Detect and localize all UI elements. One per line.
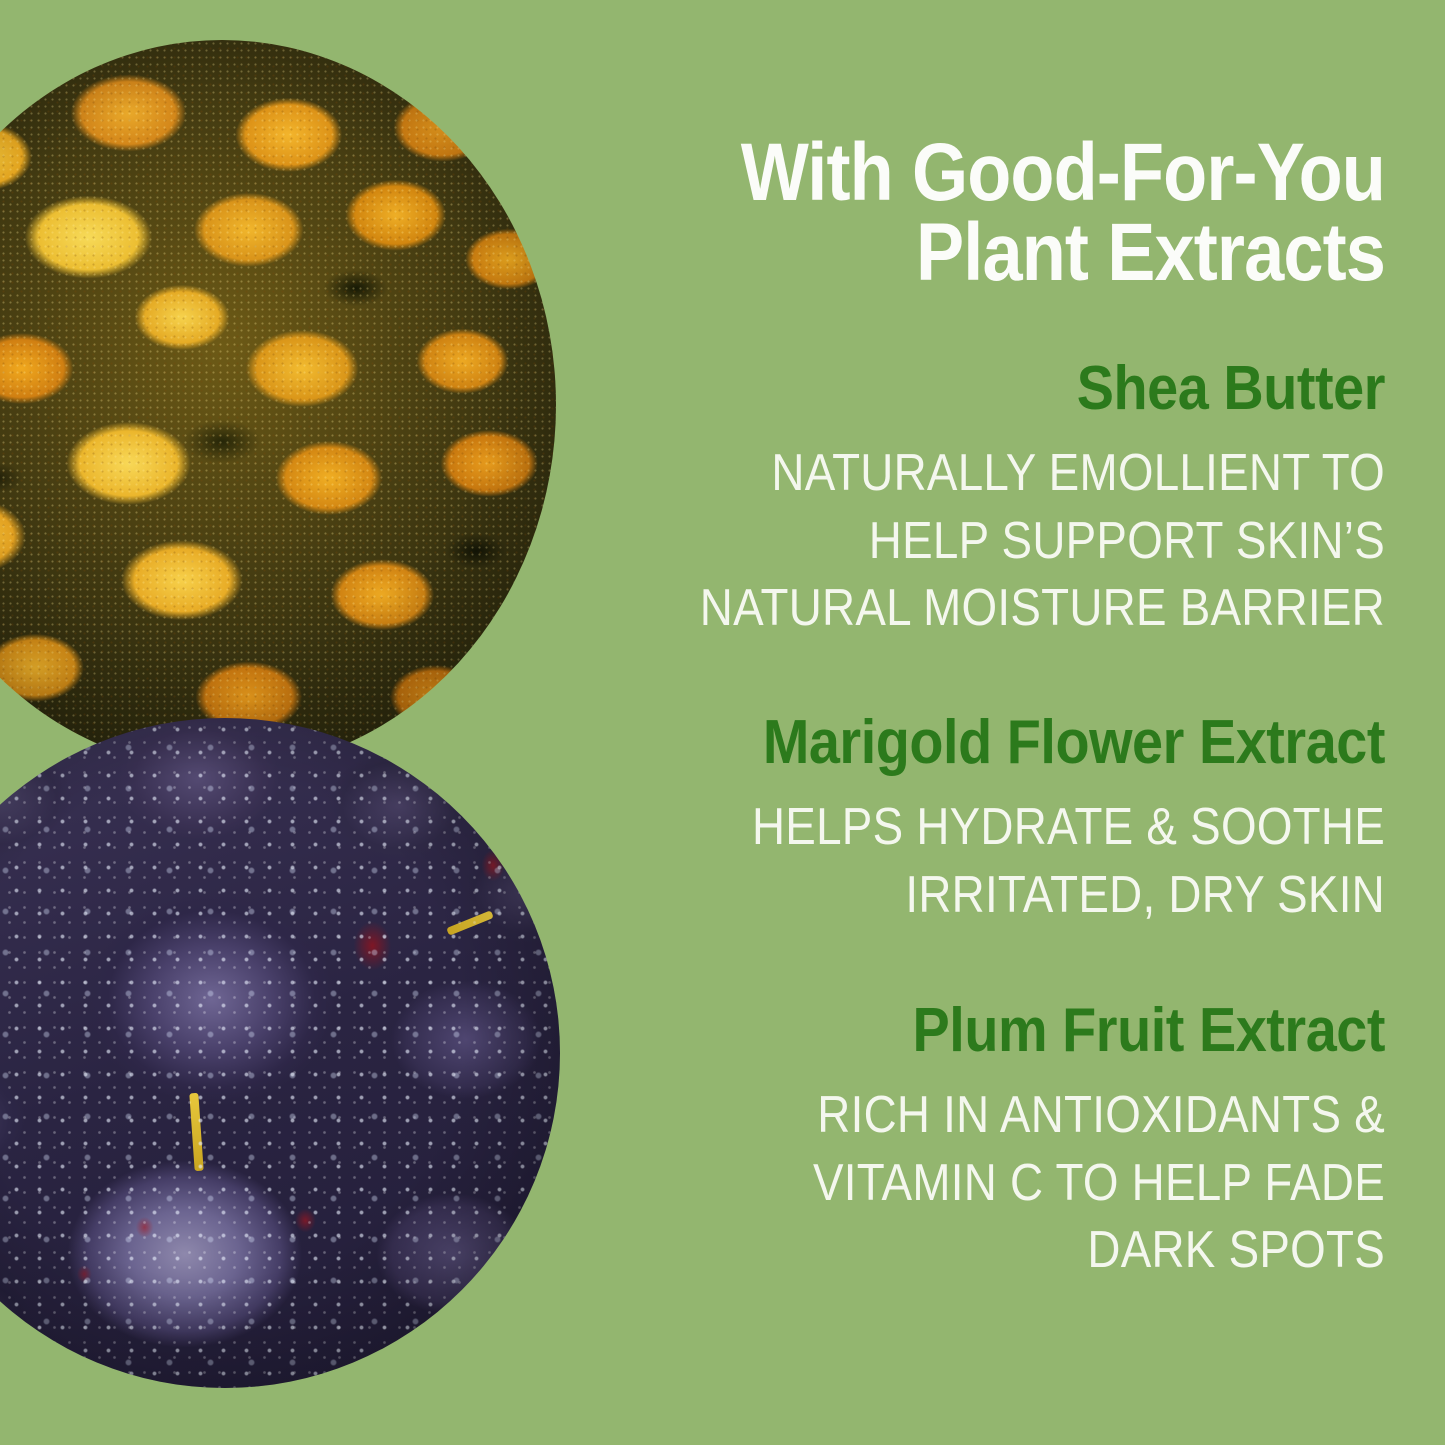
- ingredient-description-plum-fruit-extract: RICH IN ANTIOXIDANTS & VITAMIN C TO HELP…: [655, 1082, 1385, 1285]
- ingredient-name-plum-fruit-extract: Plum Fruit Extract: [638, 1000, 1385, 1062]
- marigold-vignette: [0, 40, 556, 770]
- ingredient-benefits-poster: With Good-For-You Plant Extracts Shea Bu…: [0, 0, 1445, 1445]
- ingredient-block-marigold-flower-extract: Marigold Flower Extract HELPS HYDRATE & …: [555, 712, 1385, 929]
- text-column: With Good-For-You Plant Extracts Shea Bu…: [555, 0, 1385, 1445]
- ingredient-name-shea-butter: Shea Butter: [638, 358, 1385, 420]
- plum-vignette: [0, 718, 560, 1388]
- ingredient-block-shea-butter: Shea Butter NATURALLY EMOLLIENT TO HELP …: [555, 358, 1385, 643]
- ingredient-description-shea-butter: NATURALLY EMOLLIENT TO HELP SUPPORT SKIN…: [655, 440, 1385, 643]
- ingredient-description-marigold-flower-extract: HELPS HYDRATE & SOOTHE IRRITATED, DRY SK…: [655, 794, 1385, 929]
- ingredient-block-plum-fruit-extract: Plum Fruit Extract RICH IN ANTIOXIDANTS …: [555, 1000, 1385, 1285]
- page-title: With Good-For-You Plant Extracts: [655, 133, 1385, 294]
- marigold-flowers-photo: [0, 40, 556, 770]
- ingredient-name-marigold-flower-extract: Marigold Flower Extract: [638, 712, 1385, 774]
- plum-fruit-photo: [0, 718, 560, 1388]
